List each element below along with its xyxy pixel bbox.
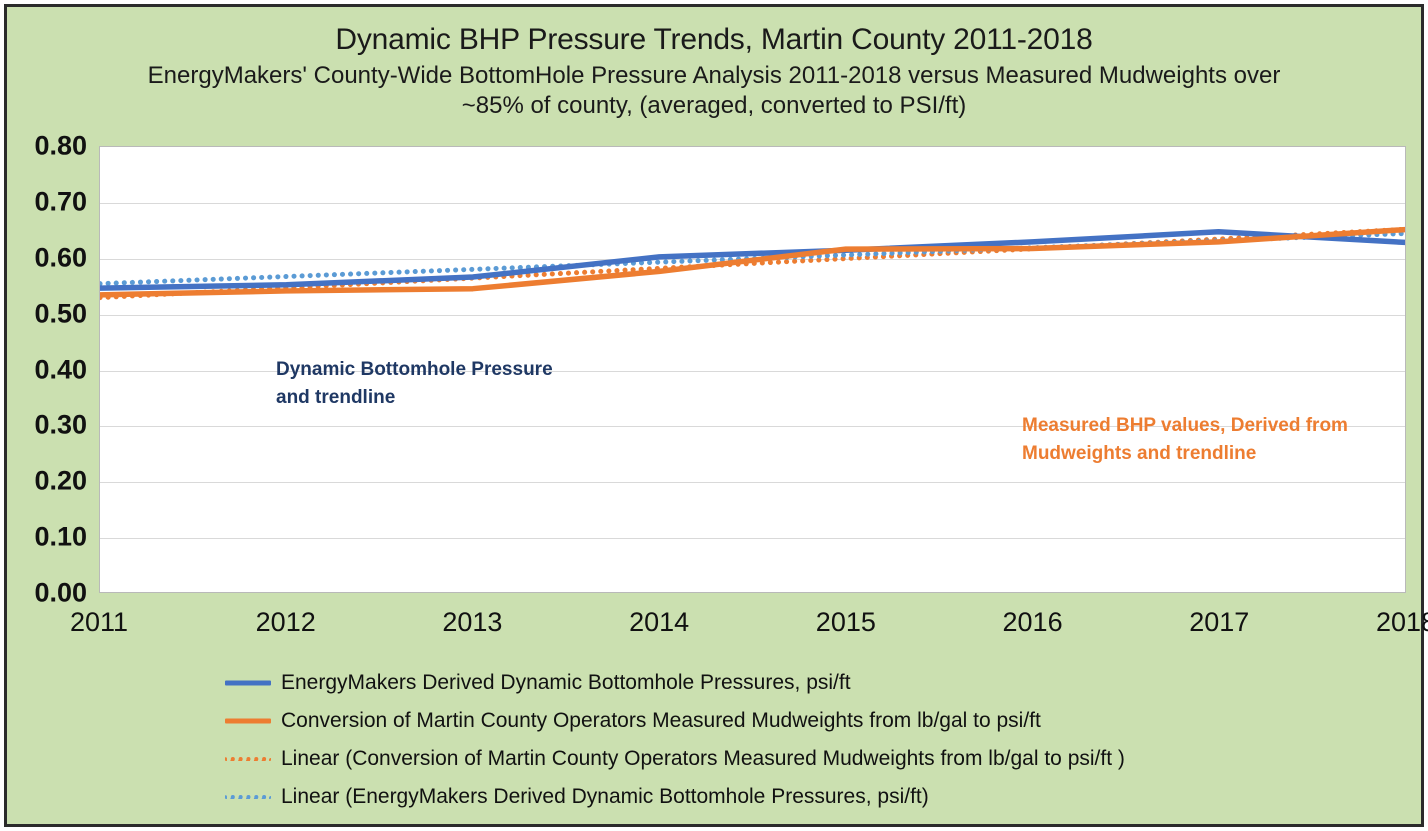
x-axis-tick-label: 2018 — [1376, 607, 1428, 638]
legend-label: Linear (EnergyMakers Derived Dynamic Bot… — [281, 785, 929, 809]
legend-label: Conversion of Martin County Operators Me… — [281, 709, 1041, 733]
y-axis-tick-label: 0.10 — [34, 522, 87, 553]
x-axis-tick-label: 2016 — [1003, 607, 1063, 638]
y-axis-tick-label: 0.00 — [34, 578, 87, 609]
legend-label: EnergyMakers Derived Dynamic Bottomhole … — [281, 671, 851, 695]
chart-title: Dynamic BHP Pressure Trends, Martin Coun… — [7, 23, 1421, 57]
y-axis-tick-label: 0.20 — [34, 466, 87, 497]
legend-label: Linear (Conversion of Martin County Oper… — [281, 747, 1125, 771]
y-axis-tick-label: 0.70 — [34, 186, 87, 217]
legend-item[interactable]: Linear (EnergyMakers Derived Dynamic Bot… — [7, 778, 1427, 816]
x-axis-tick-label: 2011 — [70, 607, 128, 638]
legend-swatch-icon — [225, 676, 271, 690]
x-axis-tick-label: 2014 — [629, 607, 689, 638]
title-block: Dynamic BHP Pressure Trends, Martin Coun… — [7, 23, 1421, 121]
legend-item[interactable]: Linear (Conversion of Martin County Oper… — [7, 740, 1427, 778]
y-axis-tick-label: 0.40 — [34, 354, 87, 385]
legend-item[interactable]: Conversion of Martin County Operators Me… — [7, 702, 1427, 740]
annotation-dynamic-bottomhole-pressure: Dynamic Bottomhole Pressure and trendlin… — [276, 356, 553, 411]
y-axis-tick-label: 0.80 — [34, 131, 87, 162]
legend-swatch-icon — [225, 790, 271, 804]
x-axis-tick-label: 2012 — [256, 607, 316, 638]
y-axis-tick-label: 0.60 — [34, 242, 87, 273]
annotation-measured-bhp-values: Measured BHP values, Derived from Mudwei… — [1022, 412, 1348, 467]
chart-subtitle: EnergyMakers' County-Wide BottomHole Pre… — [7, 61, 1421, 121]
y-axis: 0.800.700.600.500.400.300.200.100.00 — [7, 146, 93, 593]
x-axis-tick-label: 2013 — [442, 607, 502, 638]
legend-swatch-icon — [225, 752, 271, 766]
legend-swatch-icon — [225, 714, 271, 728]
y-axis-tick-label: 0.50 — [34, 298, 87, 329]
plot-area: Dynamic Bottomhole Pressure and trendlin… — [99, 146, 1406, 593]
x-axis-tick-label: 2015 — [816, 607, 876, 638]
chart-frame: Dynamic BHP Pressure Trends, Martin Coun… — [4, 4, 1424, 827]
x-axis: 20112012201320142015201620172018 — [99, 607, 1406, 651]
y-axis-tick-label: 0.30 — [34, 410, 87, 441]
legend-item[interactable]: EnergyMakers Derived Dynamic Bottomhole … — [7, 664, 1427, 702]
legend: EnergyMakers Derived Dynamic Bottomhole … — [7, 664, 1427, 816]
x-axis-tick-label: 2017 — [1189, 607, 1249, 638]
